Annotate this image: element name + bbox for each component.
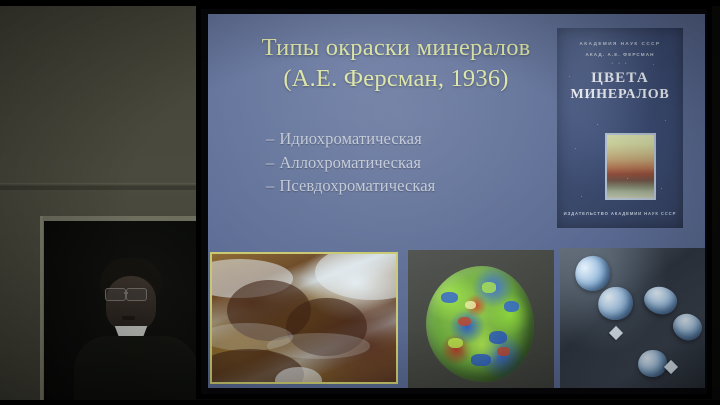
bullet-label-3: Псевдохроматическая (279, 176, 435, 195)
slide-bullet-list: –Идиохроматическая –Аллохроматическая –П… (266, 127, 586, 198)
wall-molding-lower (0, 187, 206, 190)
book-cover-speckle (581, 196, 582, 197)
moonstone-3 (641, 283, 680, 318)
presenter-sweater (74, 336, 198, 405)
photo-agate-banded-section (210, 252, 398, 384)
blackboard-left-edge (40, 216, 43, 405)
book-cover-speckle (575, 148, 576, 149)
book-cover-speckle (665, 120, 666, 121)
moonstone-2 (595, 284, 635, 323)
presenter (74, 258, 198, 405)
frame-bottom-letterbox (0, 400, 720, 405)
glasses-bridge (124, 292, 128, 294)
glasses-left-lens (105, 288, 126, 301)
moonstone-4 (669, 309, 705, 344)
bullet-item-3: –Псевдохроматическая (266, 174, 586, 198)
bullet-label-2: Аллохроматическая (279, 153, 421, 172)
presenter-face (106, 276, 156, 332)
slide-title: Типы окраски минералов (А.Е. Ферсман, 19… (226, 32, 566, 94)
opal-specimen (426, 266, 534, 382)
bullet-label-1: Идиохроматическая (279, 129, 421, 148)
bullet-item-1: –Идиохроматическая (266, 127, 586, 151)
book-author: АКАД. А.Е. ФЕРСМАН (557, 52, 683, 57)
book-cover-speckle (597, 124, 598, 125)
book-publisher-bottom: ИЗДАТЕЛЬСТВО АКАДЕМИИ НАУК СССР (557, 211, 683, 216)
glasses-right-lens (126, 288, 147, 301)
moonstone-5 (637, 349, 669, 379)
slide-title-line-2: (А.Е. Ферсман, 1936) (226, 63, 566, 94)
frame-top-letterbox (0, 0, 720, 6)
bullet-dash-1: – (266, 129, 274, 148)
book-ornament: * * * (557, 61, 683, 66)
book-cover-inset-plate (605, 133, 656, 200)
presentation-slide: Типы окраски минералов (А.Е. Ферсман, 19… (208, 14, 705, 388)
book-publisher-top: АКАДЕМИЯ НАУК СССР (557, 41, 683, 46)
lecture-room-scene: Типы окраски минералов (А.Е. Ферсман, 19… (0, 0, 720, 405)
book-title-line-1: ЦВЕТА (557, 70, 683, 87)
photo-moonstone-cabochons (560, 248, 705, 388)
photo-opal-iridescent (408, 250, 554, 388)
book-title-line-2: МИНЕРАЛОВ (557, 87, 683, 103)
presenter-mouth (122, 316, 135, 320)
bullet-item-2: –Аллохроматическая (266, 151, 586, 175)
bullet-dash-3: – (266, 176, 274, 195)
bullet-dash-2: – (266, 153, 274, 172)
book-cover-image: АКАДЕМИЯ НАУК СССР АКАД. А.Е. ФЕРСМАН * … (557, 28, 683, 228)
slide-title-line-1: Типы окраски минералов (226, 32, 566, 63)
label-tag-1 (609, 325, 623, 339)
book-cover-speckle (661, 188, 662, 189)
